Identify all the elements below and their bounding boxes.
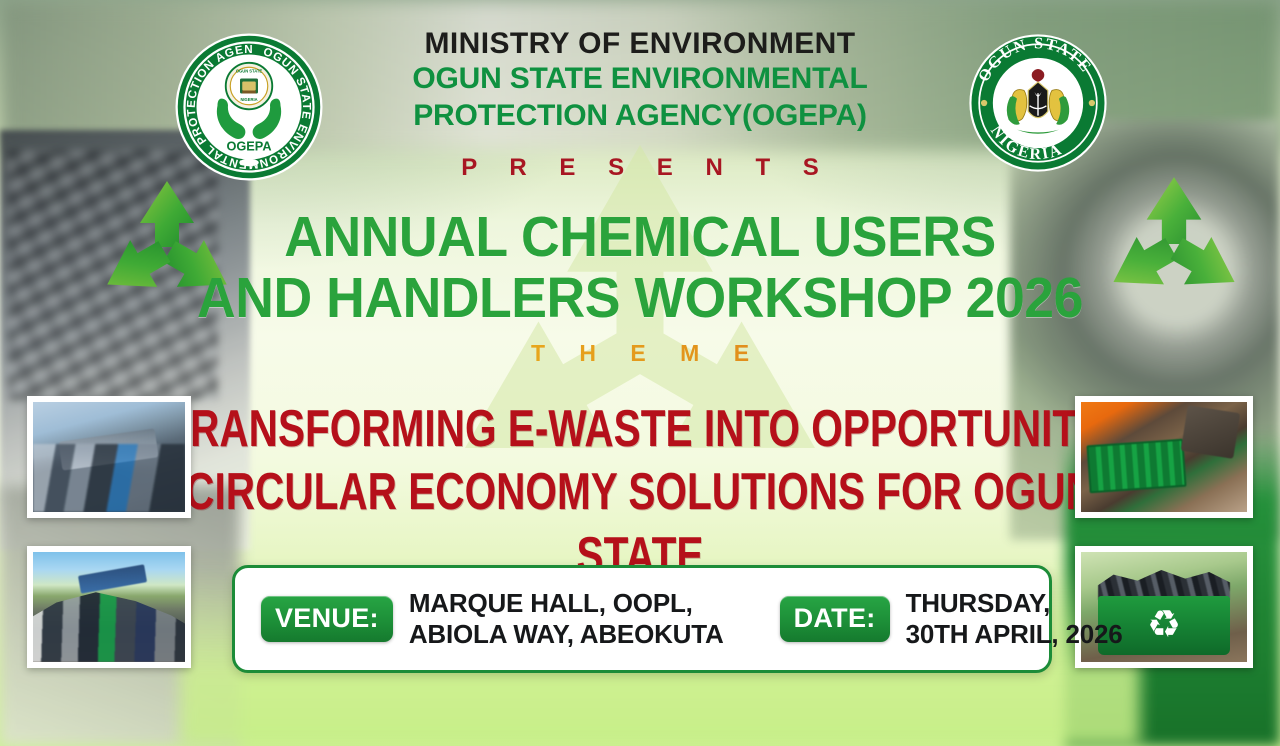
theme-line1: TRANSFORMING E-WASTE INTO OPPORTUNITY: bbox=[165, 400, 1114, 458]
date-line1: THURSDAY, bbox=[906, 588, 1123, 619]
venue-text: MARQUE HALL, OOPL, ABIOLA WAY, ABEOKUTA bbox=[409, 588, 724, 650]
date-line2: 30TH APRIL, 2026 bbox=[906, 619, 1123, 650]
venue-badge: VENUE: bbox=[261, 596, 393, 642]
venue-line2: ABIOLA WAY, ABEOKUTA bbox=[409, 619, 724, 650]
venue-line1: MARQUE HALL, OOPL, bbox=[409, 588, 724, 619]
agency-title-line1: OGUN STATE ENVIRONMENTAL bbox=[330, 62, 950, 97]
ogun-state-nigeria-logo: OGUN STATE NIGERIA bbox=[968, 33, 1108, 173]
svg-text:NIGERIA: NIGERIA bbox=[240, 97, 257, 102]
venue-group: VENUE: MARQUE HALL, OOPL, ABIOLA WAY, AB… bbox=[261, 588, 724, 650]
event-flyer: OGUN STATE ENVIRONMENTAL PROTECTION AGEN… bbox=[0, 0, 1280, 746]
photo-ewaste-heap-2 bbox=[27, 546, 191, 668]
svg-text:OGUN STATE: OGUN STATE bbox=[236, 69, 263, 74]
photo-worker-crate bbox=[1075, 396, 1253, 518]
photo-ewaste-heap-1 bbox=[27, 396, 191, 518]
event-title-line1: ANNUAL CHEMICAL USERS bbox=[284, 205, 996, 269]
event-title-line2: AND HANDLERS WORKSHOP 2026 bbox=[38, 268, 1241, 329]
event-details-bar: VENUE: MARQUE HALL, OOPL, ABIOLA WAY, AB… bbox=[232, 565, 1052, 673]
date-group: DATE: THURSDAY, 30TH APRIL, 2026 bbox=[780, 588, 1123, 650]
header-block: MINISTRY OF ENVIRONMENT OGUN STATE ENVIR… bbox=[330, 28, 950, 133]
date-text: THURSDAY, 30TH APRIL, 2026 bbox=[906, 588, 1123, 650]
presents-label: P R E S E N T S bbox=[0, 154, 1280, 182]
agency-title-line2: PROTECTION AGENCY(OGEPA) bbox=[330, 99, 950, 134]
ministry-title: MINISTRY OF ENVIRONMENT bbox=[330, 28, 950, 60]
svg-text:OGEPA: OGEPA bbox=[226, 139, 271, 154]
theme-statement: TRANSFORMING E-WASTE INTO OPPORTUNITY: C… bbox=[141, 398, 1139, 588]
theme-label: T H E M E bbox=[0, 340, 1280, 367]
date-badge: DATE: bbox=[780, 596, 890, 642]
event-title: ANNUAL CHEMICAL USERS AND HANDLERS WORKS… bbox=[38, 207, 1241, 329]
